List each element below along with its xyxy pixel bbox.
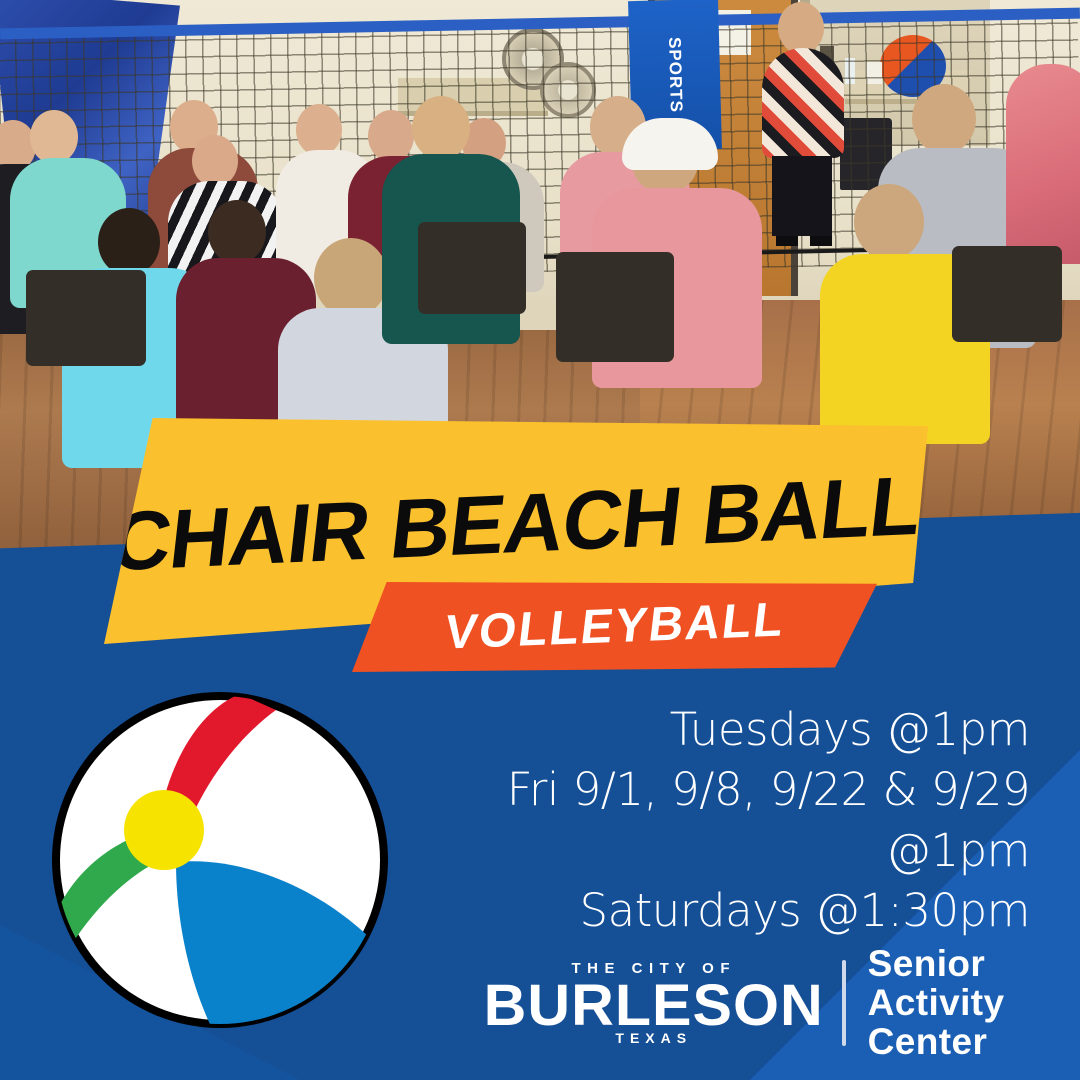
- city-name: BURLESON: [484, 979, 824, 1032]
- ball-hub: [124, 790, 204, 870]
- schedule-line: Tuesdays @1pm: [410, 700, 1030, 760]
- logo-divider: [842, 960, 845, 1046]
- net-brand-label: SPORTS: [664, 37, 686, 113]
- department-name: Senior Activity Center: [868, 944, 1080, 1062]
- department-line-1: Senior: [868, 944, 1080, 983]
- beach-ball-icon: [44, 684, 396, 1036]
- department-line-2: Activity Center: [868, 983, 1080, 1061]
- city-logo: THE CITY OF BURLESON TEXAS: [487, 960, 820, 1046]
- folding-chair: [26, 270, 146, 366]
- subtitle-banner-orange: VOLLEYBALL: [352, 582, 877, 672]
- folding-chair: [556, 252, 674, 362]
- page-subtitle: VOLLEYBALL: [441, 592, 787, 660]
- schedule-line: Fri 9/1, 9/8, 9/22 & 9/29 @1pm: [410, 760, 1030, 881]
- folding-chair: [418, 222, 526, 314]
- schedule-list: Tuesdays @1pm Fri 9/1, 9/8, 9/22 & 9/29 …: [410, 700, 1030, 941]
- page-title: CHAIR BEACH BALL: [106, 457, 925, 590]
- poster: SPORTS: [0, 0, 1080, 1080]
- folding-chair: [952, 246, 1062, 342]
- logo-lockup: THE CITY OF BURLESON TEXAS Senior Activi…: [487, 944, 1080, 1062]
- schedule-line: Saturdays @1:30pm: [410, 881, 1030, 941]
